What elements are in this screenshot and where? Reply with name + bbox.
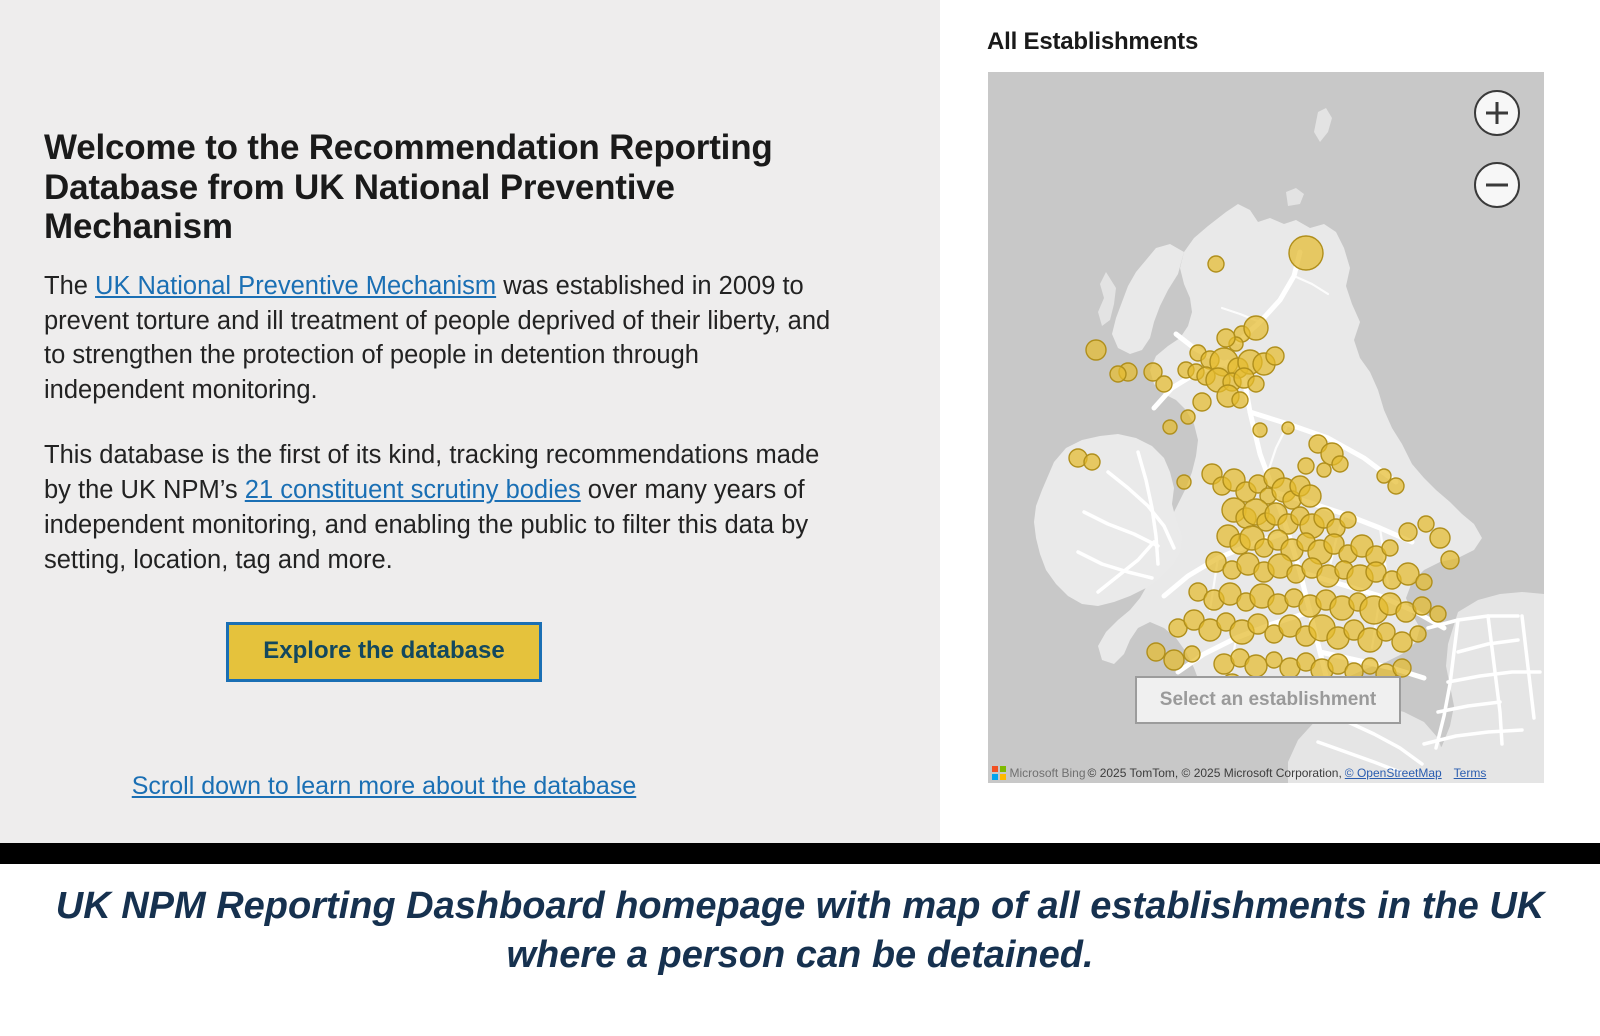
establishment-marker[interactable] [1392,632,1412,652]
establishment-marker[interactable] [1217,329,1235,347]
establishment-marker[interactable] [1418,516,1434,532]
establishment-marker[interactable] [1245,655,1267,677]
establishment-marker[interactable] [1181,410,1195,424]
terms-link[interactable]: Terms [1454,766,1487,780]
establishment-marker[interactable] [1410,626,1426,642]
paragraph-1-text-before: The [44,272,95,300]
establishment-marker[interactable] [1430,606,1446,622]
explore-button-row: Explore the database [44,622,834,682]
intro-panel: Welcome to the Recommendation Reporting … [0,0,940,843]
establishment-marker[interactable] [1163,420,1177,434]
establishment-marker[interactable] [1156,376,1172,392]
npm-link[interactable]: UK National Preventive Mechanism [95,272,496,300]
establishment-marker[interactable] [1416,574,1432,590]
establishment-marker[interactable] [1430,528,1450,548]
intro-paragraph-2: This database is the first of its kind, … [44,438,834,578]
explore-database-button[interactable]: Explore the database [226,622,541,682]
establishment-select-placeholder: Select an establishment [1160,689,1376,711]
divider-bar [0,843,1600,864]
zoom-out-icon[interactable] [1474,162,1520,208]
establishment-marker[interactable] [1399,523,1417,541]
establishment-marker[interactable] [1393,659,1411,677]
establishment-marker[interactable] [1289,236,1323,270]
establishment-marker[interactable] [1299,485,1321,507]
microsoft-logo-icon [992,766,1006,780]
scroll-link-row: Scroll down to learn more about the data… [44,772,834,801]
establishments-map[interactable]: Select an establishment Microsoft Bing ©… [988,72,1544,783]
figure-caption: UK NPM Reporting Dashboard homepage with… [0,864,1600,979]
establishment-select[interactable]: Select an establishment [1135,676,1401,724]
establishment-marker[interactable] [1382,540,1398,556]
establishment-marker[interactable] [1332,456,1348,472]
establishment-marker[interactable] [1147,643,1165,661]
page-title: Welcome to the Recommendation Reporting … [44,128,834,247]
scroll-down-link[interactable]: Scroll down to learn more about the data… [132,772,636,800]
establishment-marker[interactable] [1244,316,1268,340]
establishment-marker[interactable] [1266,347,1284,365]
establishment-marker[interactable] [1282,422,1294,434]
bing-wordmark: Microsoft Bing [1010,766,1086,780]
map-panel: All Establishments [940,0,1600,843]
establishment-marker[interactable] [1340,512,1356,528]
establishment-marker[interactable] [1317,463,1331,477]
screenshot-root: Welcome to the Recommendation Reporting … [0,0,1600,1036]
map-title: All Establishments [987,28,1198,56]
map-attribution: Microsoft Bing © 2025 TomTom, © 2025 Mic… [988,763,1544,783]
dashboard-app-area: Welcome to the Recommendation Reporting … [0,0,1600,843]
establishment-marker[interactable] [1193,393,1211,411]
establishment-marker[interactable] [1184,646,1200,662]
establishment-marker[interactable] [1110,366,1126,382]
establishment-marker[interactable] [1377,469,1391,483]
establishment-marker[interactable] [1164,650,1184,670]
establishment-marker[interactable] [1084,454,1100,470]
intro-paragraph-1: The UK National Preventive Mechanism was… [44,269,834,409]
establishment-marker[interactable] [1086,340,1106,360]
establishment-marker[interactable] [1388,478,1404,494]
establishment-marker[interactable] [1298,458,1314,474]
openstreetmap-link[interactable]: © OpenStreetMap [1345,766,1442,780]
map-copyright-text: © 2025 TomTom, © 2025 Microsoft Corporat… [1088,766,1342,780]
establishment-marker[interactable] [1413,597,1431,615]
establishment-marker[interactable] [1208,256,1224,272]
establishment-marker[interactable] [1177,475,1191,489]
establishment-marker[interactable] [1232,392,1248,408]
zoom-in-icon[interactable] [1474,90,1520,136]
intro-content: Welcome to the Recommendation Reporting … [44,128,834,801]
establishment-marker[interactable] [1441,551,1459,569]
establishment-marker[interactable] [1253,423,1267,437]
establishment-marker[interactable] [1248,376,1264,392]
scrutiny-bodies-link[interactable]: 21 constituent scrutiny bodies [245,476,581,504]
